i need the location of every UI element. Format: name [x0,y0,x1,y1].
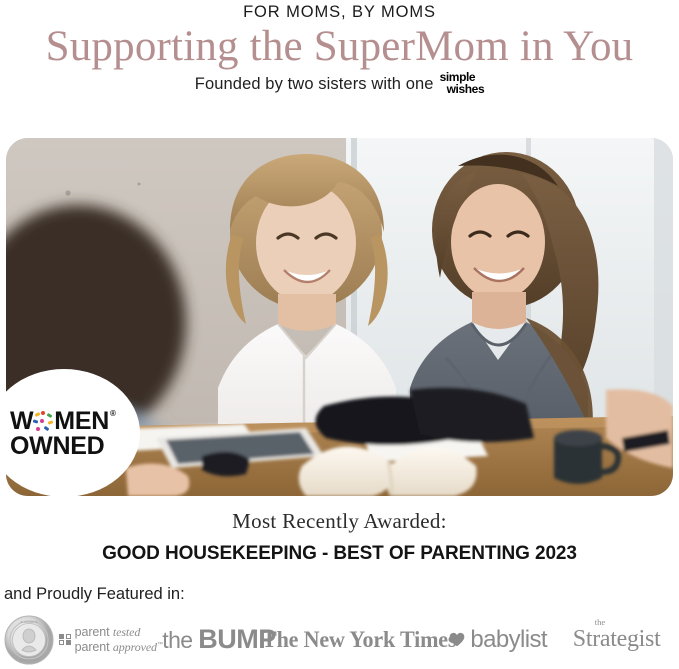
ptpa-line2-b: approved [113,640,157,654]
grid-squares-icon [59,634,71,646]
new-york-times-logo: The New York Times [276,612,442,667]
svg-text:★ AWARD ★: ★ AWARD ★ [20,620,38,624]
women-owned-line1: W MEN ® [10,409,128,434]
page-title: Supporting the SuperMom in You [0,22,679,72]
babylist-logo: babylist [442,612,554,667]
ptpa-line2-a: parent [75,640,113,654]
ptpa-logo: parent tested parent approved™ [54,612,162,667]
eyebrow-text: FOR MOMS, BY MOMS [0,3,679,22]
simple-wishes-logo: simple wishes [440,72,485,95]
award-seal-logo: ★ AWARD ★ ★ WINNER ★ [4,612,54,667]
registered-trademark-icon: ® [110,401,116,426]
confetti-burst-icon [33,411,54,433]
strategist-main: Strategist [573,626,661,652]
ptpa-line1-a: parent [75,625,113,639]
the-strategist-logo: the Strategist [554,612,679,667]
women-owned-line2: OWNED [10,434,128,459]
the-bump-logo: the BUMP [162,612,276,667]
featured-in-label: and Proudly Featured in: [4,585,185,604]
women-owned-w: W [10,409,33,434]
ptpa-line1-b: tested [113,625,140,639]
women-owned-men: MEN [54,409,109,434]
strategist-the: the [595,617,605,627]
most-recently-awarded-label: Most Recently Awarded: [0,509,679,534]
new-york-times-text: The New York Times [262,627,456,653]
founded-by-row: Founded by two sisters with one simple w… [0,74,679,97]
the-bump-the: the [162,627,198,653]
press-logo-row: ★ AWARD ★ ★ WINNER ★ parent tested paren… [0,612,679,667]
svg-text:★ WINNER ★: ★ WINNER ★ [20,658,39,662]
babylist-text: babylist [470,626,547,654]
award-seal-icon: ★ AWARD ★ ★ WINNER ★ [4,615,54,665]
promo-banner: FOR MOMS, BY MOMS Supporting the SuperMo… [0,0,679,669]
simple-wishes-logo-line2: wishes [440,82,485,96]
award-title: GOOD HOUSEKEEPING - BEST OF PARENTING 20… [0,543,679,565]
founded-by-text: Founded by two sisters with one [195,74,434,95]
ptpa-text: parent tested parent approved™ [75,626,163,653]
